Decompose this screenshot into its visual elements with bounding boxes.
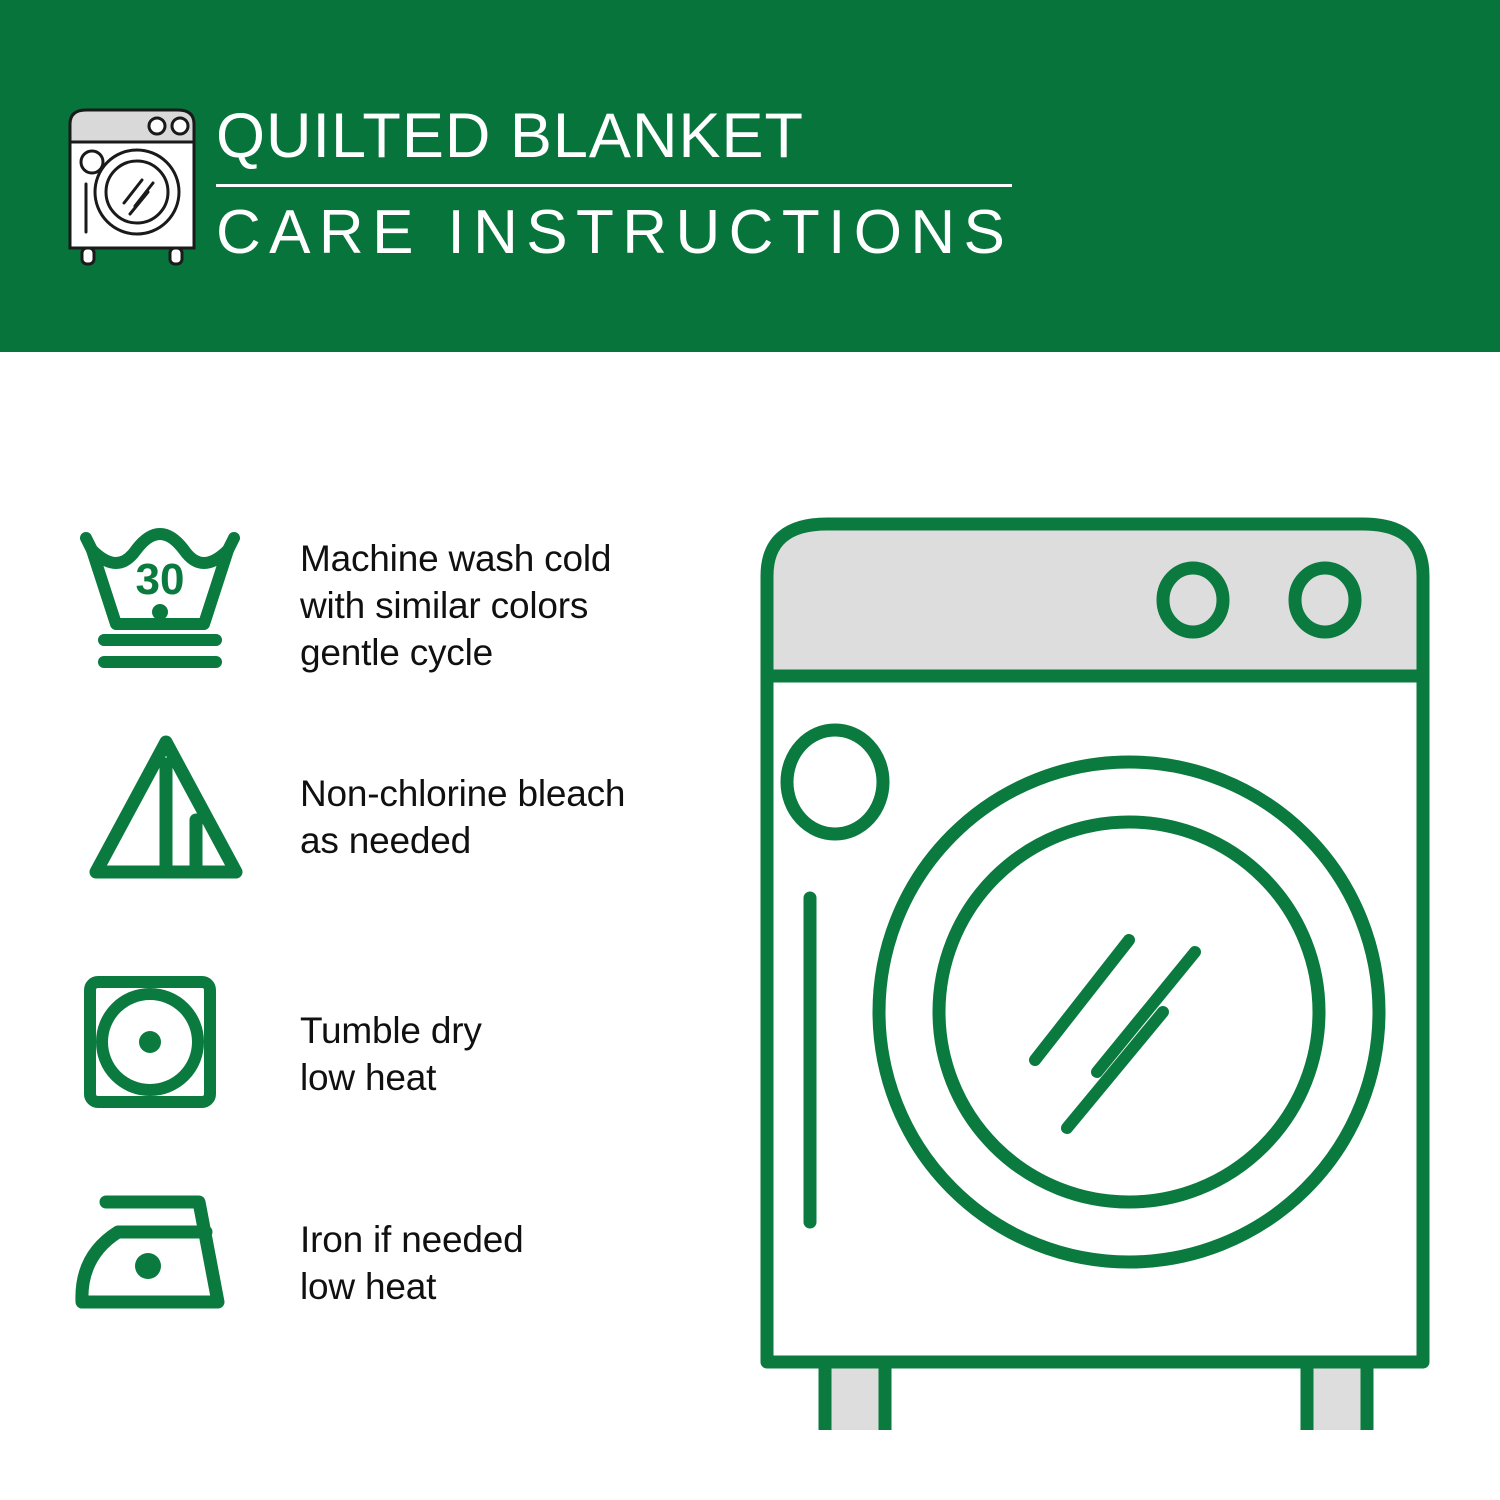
care-text-bleach-line-2: as needed (300, 817, 700, 864)
care-text-tumble-dry: Tumble dry low heat (300, 1007, 700, 1101)
control-panel (767, 524, 1423, 676)
care-text-iron-line-2: low heat (300, 1263, 700, 1310)
header-banner: QUILTED BLANKET CARE INSTRUCTIONS (0, 0, 1500, 352)
wash-temperature-label: 30 (136, 555, 185, 604)
care-text-wash-line-2: with similar colors (300, 582, 700, 629)
iron-low-heat-icon (66, 1184, 246, 1324)
care-text-dry-line-2: low heat (300, 1054, 700, 1101)
care-text-iron: Iron if needed low heat (300, 1216, 700, 1310)
washing-machine-icon (62, 100, 202, 266)
header-title-block: QUILTED BLANKET CARE INSTRUCTIONS (216, 98, 1026, 271)
care-text-wash: Machine wash cold with similar colors ge… (300, 535, 700, 676)
tumble-dry-low-icon (80, 972, 220, 1112)
machine-leg-left (825, 1362, 885, 1430)
care-text-bleach: Non-chlorine bleach as needed (300, 770, 700, 864)
page-title: QUILTED BLANKET (216, 98, 1026, 174)
care-text-wash-line-1: Machine wash cold (300, 535, 700, 582)
washing-machine-illustration (745, 500, 1445, 1430)
machine-leg-right (1307, 1362, 1367, 1430)
non-chlorine-bleach-triangle-icon (78, 730, 254, 890)
care-text-iron-line-1: Iron if needed (300, 1216, 700, 1263)
title-divider (216, 184, 1012, 187)
care-instruction-list: 30 Machine wash cold with similar colors… (0, 352, 720, 1500)
care-text-wash-line-3: gentle cycle (300, 629, 700, 676)
care-instructions-page: QUILTED BLANKET CARE INSTRUCTIONS 30 (0, 0, 1500, 1500)
page-subtitle: CARE INSTRUCTIONS (216, 195, 1026, 271)
wash-tub-30-gentle-icon: 30 (72, 520, 248, 680)
care-text-bleach-line-1: Non-chlorine bleach (300, 770, 700, 817)
care-text-dry-line-1: Tumble dry (300, 1007, 700, 1054)
